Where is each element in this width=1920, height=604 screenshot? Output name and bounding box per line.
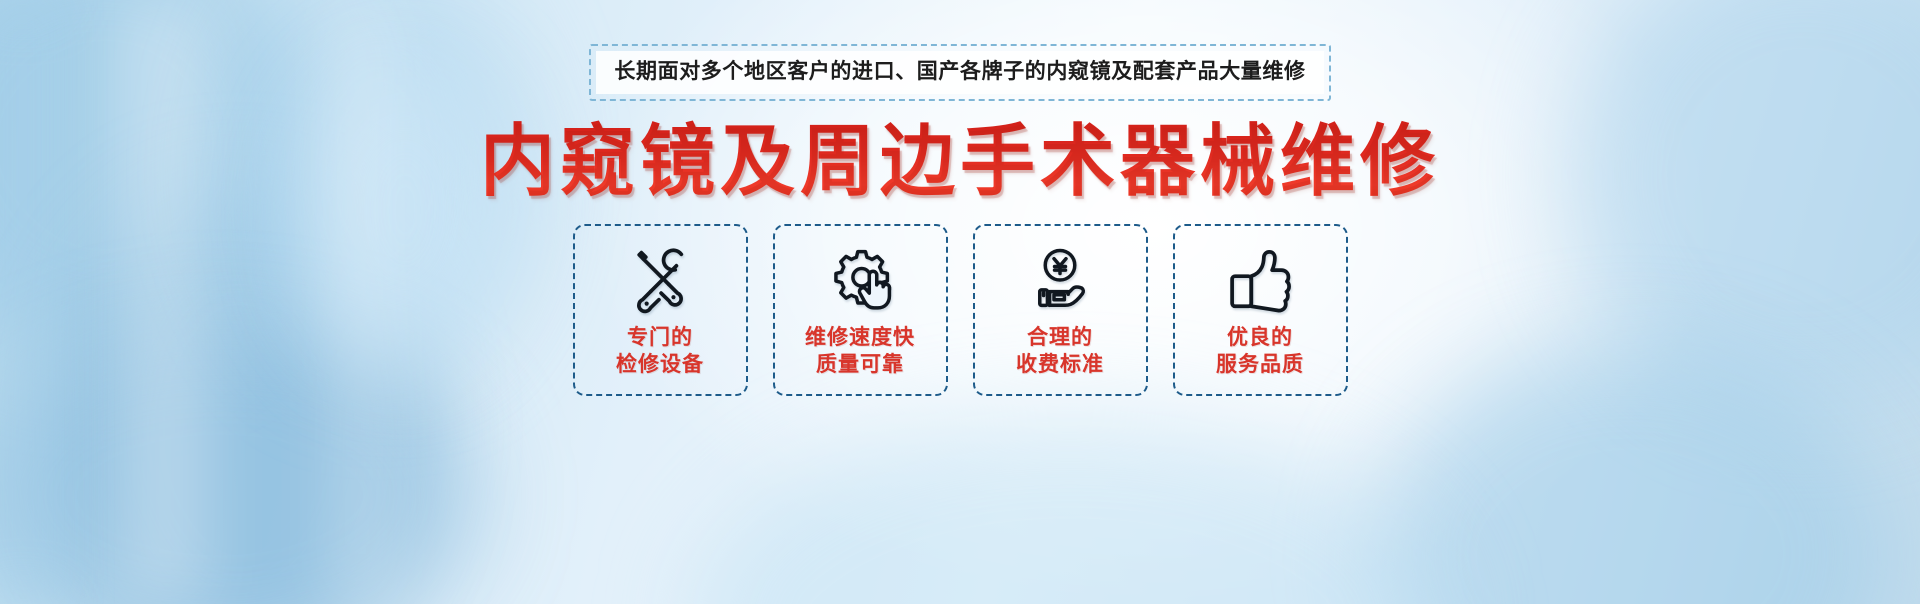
feature-label-line2: 服务品质 [1216,351,1304,378]
feature-label-line2: 收费标准 [1016,351,1104,378]
gear-click-icon [823,244,897,316]
subtitle-ribbon: 长期面对多个地区客户的进口、国产各牌子的内窥镜及配套产品大量维修 [589,44,1330,101]
screwdriver-wrench-icon [623,244,697,316]
feature-card-quality[interactable]: 优良的 服务品质 [1173,224,1348,396]
feature-label: 合理的 收费标准 [1016,324,1104,379]
banner-title: 内窥镜及周边手术器械维修 [480,120,1440,204]
feature-label-line1: 专门的 [627,326,693,349]
feature-card-equipment[interactable]: 专门的 检修设备 [573,224,748,396]
banner-subtitle: 长期面对多个地区客户的进口、国产各牌子的内窥镜及配套产品大量维修 [614,59,1305,84]
feature-list: 专门的 检修设备 [573,224,1348,396]
feature-label-line1: 维修速度快 [805,326,915,349]
subtitle-inner-panel: 长期面对多个地区客户的进口、国产各牌子的内窥镜及配套产品大量维修 [596,51,1323,94]
promo-banner: 长期面对多个地区客户的进口、国产各牌子的内窥镜及配套产品大量维修 内窥镜及周边手… [0,0,1920,604]
feature-label-line2: 质量可靠 [805,351,915,378]
feature-label: 专门的 检修设备 [616,324,704,379]
feature-label-line2: 检修设备 [616,351,704,378]
thumbs-up-icon [1223,244,1297,316]
feature-label: 优良的 服务品质 [1216,324,1304,379]
feature-card-speed[interactable]: 维修速度快 质量可靠 [773,224,948,396]
feature-card-price[interactable]: 合理的 收费标准 [973,224,1148,396]
hand-yen-coin-icon [1023,244,1097,316]
feature-label: 维修速度快 质量可靠 [805,324,915,379]
banner-content: 长期面对多个地区客户的进口、国产各牌子的内窥镜及配套产品大量维修 内窥镜及周边手… [0,0,1920,604]
feature-label-line1: 合理的 [1027,326,1093,349]
feature-label-line1: 优良的 [1227,326,1293,349]
